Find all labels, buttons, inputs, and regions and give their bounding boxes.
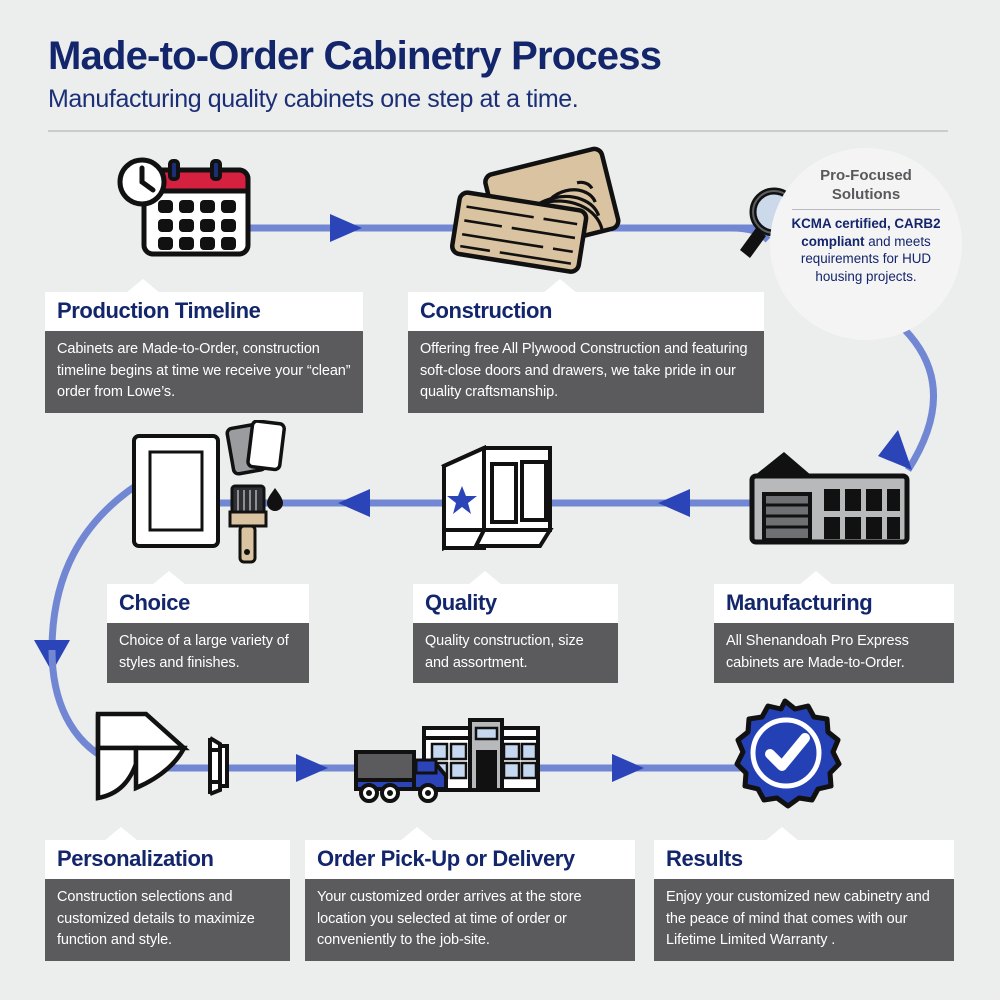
factory-icon: [744, 448, 919, 558]
paint-swatch-brush-icon: [122, 420, 307, 572]
pro-callout-title: Pro-Focused Solutions: [784, 166, 948, 204]
card-body: Construction selections and customized d…: [45, 879, 290, 961]
calendar-clock-icon: [100, 152, 265, 267]
card-notch: [104, 827, 138, 841]
card-body: All Shenandoah Pro Express cabinets are …: [714, 623, 954, 683]
card-personalization: Personalization Construction selections …: [45, 840, 290, 961]
card-manufacturing: Manufacturing All Shenandoah Pro Express…: [714, 584, 954, 683]
card-title: Results: [654, 840, 954, 879]
card-quality: Quality Quality construction, size and a…: [413, 584, 618, 683]
cabinet-star-icon: [432, 442, 562, 560]
card-body: Cabinets are Made-to-Order, construction…: [45, 331, 363, 413]
pro-focused-solutions-callout: Pro-Focused Solutions KCMA certified, CA…: [770, 148, 962, 340]
plywood-boards-icon: [444, 140, 644, 280]
card-results: Results Enjoy your customized new cabine…: [654, 840, 954, 961]
card-notch: [126, 279, 160, 293]
card-body: Your customized order arrives at the sto…: [305, 879, 635, 961]
infographic-canvas: Made-to-Order Cabinetry Process Manufact…: [0, 0, 1000, 1000]
card-body: Choice of a large variety of styles and …: [107, 623, 309, 683]
pro-callout-divider: [792, 209, 940, 210]
card-title: Personalization: [45, 840, 290, 879]
card-production-timeline: Production Timeline Cabinets are Made-to…: [45, 292, 363, 413]
card-notch: [468, 571, 502, 585]
card-title: Order Pick-Up or Delivery: [305, 840, 635, 879]
card-title: Construction: [408, 292, 764, 331]
card-notch: [152, 571, 186, 585]
card-title: Manufacturing: [714, 584, 954, 623]
pro-callout-text: KCMA certified, CARB2 compliant and meet…: [784, 215, 948, 285]
card-construction: Construction Offering free All Plywood C…: [408, 292, 764, 413]
card-title: Production Timeline: [45, 292, 363, 331]
card-choice: Choice Choice of a large variety of styl…: [107, 584, 309, 683]
card-notch: [765, 827, 799, 841]
card-body: Quality construction, size and assortmen…: [413, 623, 618, 683]
card-title: Choice: [107, 584, 309, 623]
card-notch: [799, 571, 833, 585]
card-title: Quality: [413, 584, 618, 623]
card-body: Offering free All Plywood Construction a…: [408, 331, 764, 413]
card-notch: [543, 279, 577, 293]
crown-molding-handle-icon: [84, 702, 249, 814]
check-badge-icon: [726, 698, 844, 816]
truck-store-icon: [352, 702, 542, 814]
card-notch: [400, 827, 434, 841]
card-order-pickup-or-delivery: Order Pick-Up or Delivery Your customize…: [305, 840, 635, 961]
card-body: Enjoy your customized new cabinetry and …: [654, 879, 954, 961]
